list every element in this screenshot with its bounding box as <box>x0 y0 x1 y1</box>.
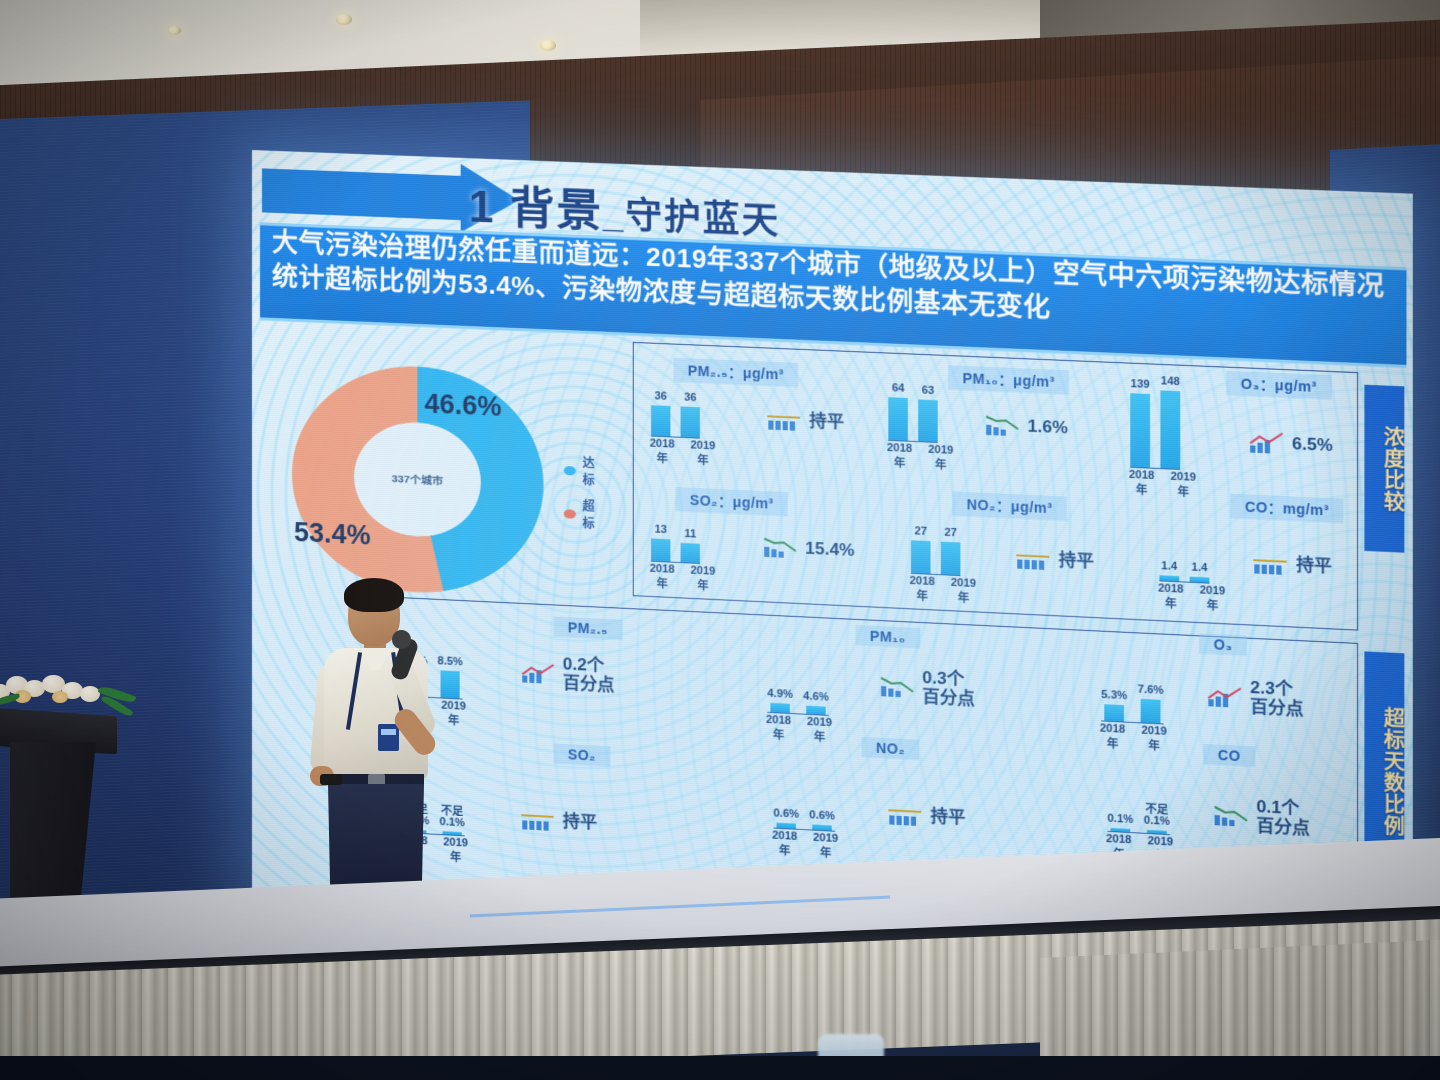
bars-no2-conc: 27 27 <box>911 518 960 576</box>
bar-rect <box>770 703 789 713</box>
x-2018: 2018年 <box>1153 582 1188 612</box>
x-2018: 2018年 <box>767 829 802 859</box>
trend-down-icon <box>1214 803 1250 827</box>
title-arrow-bar <box>262 168 463 220</box>
bars-co-ex: 0.1% 不足0.1% <box>1107 796 1170 835</box>
bar-value: 0.6% <box>773 809 799 822</box>
bar-2019: 1.4 <box>1190 563 1210 583</box>
delta-co-conc: 持平 <box>1253 552 1332 578</box>
bar-rect <box>806 706 825 715</box>
x-2019: 2019年 <box>1195 584 1230 614</box>
delta-no2-conc: 持平 <box>1016 547 1094 573</box>
bars-pm10-conc: 64 63 <box>888 377 937 443</box>
x-2018: 2018年 <box>645 437 680 467</box>
bar-rect <box>651 405 670 436</box>
bar-rect <box>651 538 670 561</box>
xaxis-no2-ex: 2018年 2019年 <box>767 829 843 861</box>
xaxis-o3-ex: 2018年 2019年 <box>1095 722 1172 754</box>
metric-label-no2: NO₂：μg/m³ <box>952 491 1067 521</box>
bars-co-conc: 1.4 1.4 <box>1159 550 1209 584</box>
delta-co-ex: 0.1个 百分点 <box>1214 796 1310 839</box>
delta-value: 15.4% <box>805 539 854 560</box>
title-main: 背景 <box>510 184 603 237</box>
xaxis-pm10-ex: 2018年 2019年 <box>761 714 837 746</box>
trend-up-icon <box>1207 684 1243 708</box>
bars-no2-ex: 0.6% 0.6% <box>773 797 835 832</box>
delta-pm10-ex: 0.3个 百分点 <box>880 667 975 710</box>
bars-o3-conc: 139 148 <box>1130 373 1180 470</box>
metric-label-pm10-ex: PM₁₀ <box>855 625 919 648</box>
bar-2019: 148 <box>1160 377 1180 469</box>
bars-pm10-ex: 4.9% 4.6% <box>767 675 829 716</box>
delta-value: 持平 <box>931 807 966 828</box>
bar-2018: 139 <box>1130 379 1150 467</box>
bar-2018: 64 <box>888 383 908 440</box>
bar-2019: 63 <box>918 386 938 442</box>
xaxis-pm25-conc: 2018年 2019年 <box>645 437 720 469</box>
bar-value: 64 <box>892 384 905 396</box>
bar-rect <box>888 397 908 440</box>
trend-down-icon <box>880 675 915 699</box>
x-2018: 2018年 <box>882 442 917 472</box>
delta-pm10-conc: 1.6% <box>985 414 1068 440</box>
bar-2018: 27 <box>911 527 931 574</box>
flower <box>80 686 100 702</box>
x-2019: 2019年 <box>923 443 958 473</box>
x-2019: 2019年 <box>1166 470 1201 500</box>
bar-value: 0.1% <box>1107 814 1133 827</box>
delta-o3-conc: 6.5% <box>1249 431 1333 457</box>
bar-value: 27 <box>944 528 957 540</box>
delta-so2-ex: 持平 <box>521 808 597 834</box>
metric-label-o3: O₃：μg/m³ <box>1226 371 1331 400</box>
metric-label-pm10: PM₁₀：μg/m³ <box>948 365 1069 395</box>
bar-rect <box>681 406 700 437</box>
bar-value: 139 <box>1131 379 1150 392</box>
floor-shadow <box>0 1056 1440 1080</box>
delta-so2-conc: 15.4% <box>763 536 854 563</box>
bar-rect <box>1190 577 1210 583</box>
x-2019: 2019年 <box>802 716 837 746</box>
bars-pm25-conc: 36 36 <box>651 379 700 439</box>
bar-2018: 36 <box>651 392 670 437</box>
bar-2018: 0.6% <box>773 809 799 829</box>
bar-rect <box>812 824 831 830</box>
photograph-scene: 1 背景_守护蓝天 大气污染治理仍然任重而道远：2019年337个城市（地级及以… <box>0 0 1440 1080</box>
bar-rect <box>1111 828 1131 832</box>
delta-value: 6.5% <box>1292 435 1333 456</box>
delta-unit: 百分点 <box>1256 817 1309 839</box>
presenter-hair <box>344 578 404 612</box>
x-2019: 2019年 <box>686 564 721 594</box>
legend-item-compliant: 达标 <box>564 453 605 489</box>
xaxis-no2-conc: 2018年 2019年 <box>905 575 981 607</box>
bar-value: 7.6% <box>1138 685 1164 698</box>
bars-so2-conc: 13 11 <box>651 516 700 564</box>
delta-value: 持平 <box>1296 556 1332 577</box>
delta-no2-ex: 持平 <box>888 803 965 829</box>
bar-value: 4.6% <box>803 692 829 705</box>
x-2019: 2019年 <box>1137 724 1172 754</box>
bar-rect <box>1141 699 1161 723</box>
ceiling-spotlight <box>168 26 181 35</box>
bar-2019: 7.6% <box>1138 685 1164 724</box>
bar-2019: 4.6% <box>803 692 829 715</box>
title-sub: _守护蓝天 <box>603 193 780 241</box>
trend-down-icon <box>985 414 1020 438</box>
bar-2019: 不足0.1% <box>1144 804 1170 834</box>
bar-value: 148 <box>1161 377 1180 390</box>
trend-flat-icon <box>521 808 555 832</box>
bar-rect <box>1130 393 1150 467</box>
trend-flat-icon <box>888 803 923 827</box>
bar-rect <box>681 543 700 563</box>
bar-value: 5.3% <box>1101 690 1127 703</box>
bar-rect <box>918 399 938 441</box>
xaxis-o3-conc: 2018年 2019年 <box>1124 468 1201 500</box>
legend-item-exceeding: 超标 <box>564 496 605 532</box>
xaxis-so2-conc: 2018年 2019年 <box>645 562 720 594</box>
legend-label-compliant: 达标 <box>583 454 605 489</box>
legend-swatch-salmon-icon <box>564 509 576 519</box>
bar-value: 4.9% <box>767 689 793 702</box>
legend-label-exceeding: 超标 <box>583 497 605 532</box>
delta-value: 持平 <box>809 412 844 432</box>
x-2018: 2018年 <box>761 714 796 744</box>
bar-2018: 4.9% <box>767 689 793 713</box>
presentation-clicker <box>320 774 342 785</box>
x-2018: 2018年 <box>1095 722 1130 752</box>
delta-pm25-ex: 0.2个 百分点 <box>521 653 614 695</box>
delta-o3-ex: 2.3个 百分点 <box>1207 677 1303 720</box>
ceiling-spotlight <box>336 14 352 25</box>
bar-2018: 1.4 <box>1159 561 1179 581</box>
xaxis-co-conc: 2018年 2019年 <box>1153 582 1230 614</box>
bar-value: 13 <box>654 525 666 537</box>
trend-up-icon <box>521 661 555 685</box>
trend-flat-icon <box>1253 552 1289 576</box>
delta-value: 持平 <box>1059 551 1094 572</box>
x-2019: 2019年 <box>946 576 981 606</box>
trend-up-icon <box>1249 431 1285 455</box>
bar-rect <box>1147 830 1167 834</box>
ceiling-spotlight <box>540 40 556 51</box>
bar-value: 11 <box>684 529 696 541</box>
delta-unit: 百分点 <box>922 688 975 710</box>
donut-value-compliant: 46.6% <box>424 388 501 422</box>
trend-flat-icon <box>1016 547 1051 571</box>
trend-flat-icon <box>767 408 802 432</box>
bar-rect <box>777 823 796 829</box>
microphone-head-icon <box>392 630 411 649</box>
donut-legend: 达标 超标 <box>564 453 605 542</box>
trend-down-icon <box>763 536 798 560</box>
bars-o3-ex: 5.3% 7.6% <box>1101 671 1164 724</box>
x-2018: 2018年 <box>1124 468 1159 498</box>
delta-value: 1.6% <box>1028 417 1068 438</box>
legend-swatch-blue-icon <box>564 465 576 475</box>
metric-label-co-ex: CO <box>1203 744 1255 767</box>
bar-rect <box>941 542 961 575</box>
bar-2019: 11 <box>681 529 700 563</box>
metric-label-co: CO：mg/m³ <box>1230 494 1343 524</box>
metric-label-no2-ex: NO₂ <box>862 737 920 760</box>
metric-label-so2: SO₂：μg/m³ <box>675 487 787 516</box>
delta-value: 持平 <box>563 812 597 833</box>
bar-2019: 0.6% <box>809 811 835 831</box>
bar-value: 不足0.1% <box>1144 804 1170 829</box>
tag-concentration-comparison: 浓度比较 <box>1364 385 1404 553</box>
badge-inner <box>381 729 396 735</box>
metric-label-pm25-ex: PM₂.₅ <box>554 617 622 640</box>
donut-center-label: 337个城市 <box>392 471 444 488</box>
bar-rect <box>1159 575 1179 581</box>
bar-value: 1.4 <box>1161 561 1177 574</box>
metric-label-so2-ex: SO₂ <box>554 743 610 766</box>
x-2019: 2019年 <box>686 439 721 469</box>
bar-2018: 13 <box>651 525 670 562</box>
bar-value: 36 <box>684 393 696 405</box>
flower-yellow <box>52 691 68 703</box>
delta-unit: 百分点 <box>1250 698 1303 720</box>
bar-value: 0.6% <box>809 811 835 824</box>
bar-rect <box>911 540 931 573</box>
x-2019: 2019年 <box>808 831 843 861</box>
bar-2018: 0.1% <box>1107 814 1133 832</box>
bar-2019: 27 <box>941 528 961 575</box>
section-number: 1 <box>469 182 496 232</box>
bar-value: 63 <box>922 386 935 398</box>
x-2018: 2018年 <box>905 575 940 605</box>
bar-rect <box>1160 390 1180 468</box>
bar-value: 27 <box>914 527 927 539</box>
bar-value: 36 <box>654 392 666 404</box>
bar-2018: 5.3% <box>1101 690 1127 721</box>
bar-2019: 36 <box>681 393 700 438</box>
delta-unit: 百分点 <box>563 674 615 695</box>
bar-value: 1.4 <box>1192 563 1208 576</box>
xaxis-pm10-conc: 2018年 2019年 <box>882 442 958 474</box>
bar-rect <box>1104 704 1124 721</box>
delta-pm25-conc: 持平 <box>767 408 844 434</box>
donut-value-exceeding: 53.4% <box>294 517 371 552</box>
x-2018: 2018年 <box>645 562 680 592</box>
metric-label-o3-ex: O₃ <box>1199 633 1247 656</box>
